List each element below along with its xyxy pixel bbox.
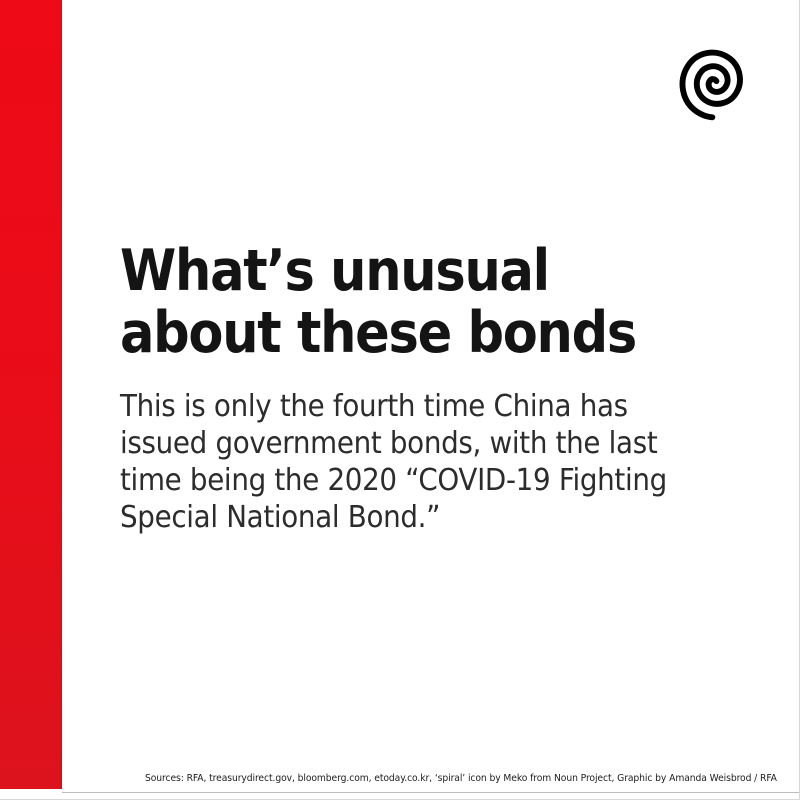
text-block: What’s unusual about these bonds This is… xyxy=(120,240,720,536)
page-title: What’s unusual about these bonds xyxy=(120,240,657,364)
spiral-logo xyxy=(668,38,760,130)
footer-divider xyxy=(62,792,799,793)
left-accent-bar xyxy=(0,0,62,789)
left-accent-bar-edge xyxy=(60,0,62,789)
sources-note: Sources: RFA, treasurydirect.gov, bloomb… xyxy=(145,772,750,785)
spiral-icon xyxy=(668,38,760,130)
subhead-paragraph: This is only the fourth time China has i… xyxy=(120,388,694,536)
infographic-card: What’s unusual about these bonds This is… xyxy=(0,0,800,800)
